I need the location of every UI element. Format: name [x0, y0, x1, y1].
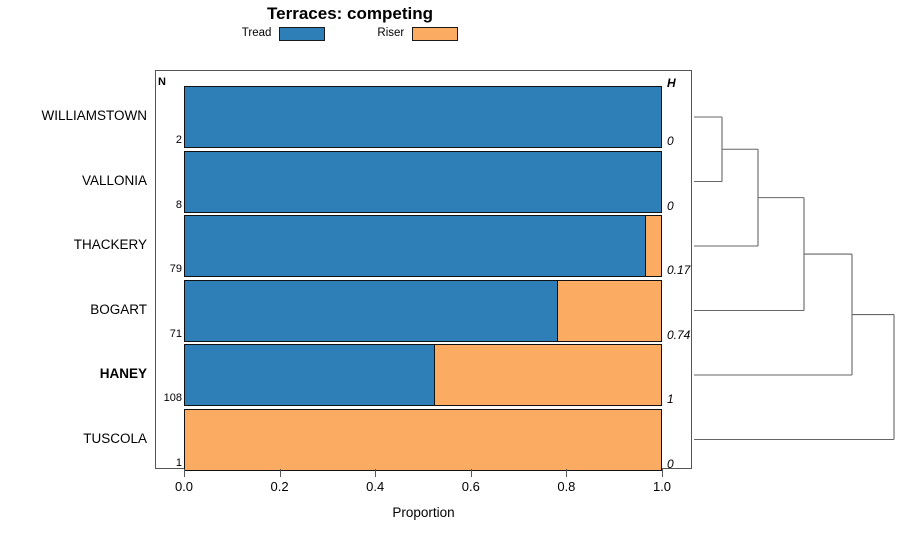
legend-label-riser: Riser	[377, 28, 404, 40]
bar-rows: WILLIAMSTOWN20VALLONIA80THACKERY790.17BO…	[155, 70, 692, 469]
bar-segment-tread	[185, 87, 661, 147]
dendrogram	[694, 70, 900, 469]
legend-swatch-tread	[279, 27, 325, 41]
stacked-bar	[184, 409, 662, 471]
x-tick-mark	[184, 469, 185, 477]
row-n-value: 79	[158, 263, 182, 275]
x-tick-label: 0.4	[350, 479, 400, 494]
chart-title: Terraces: competing	[0, 4, 700, 24]
bar-segment-tread	[185, 152, 661, 212]
bar-segment-tread	[185, 216, 645, 276]
table-row: HANEY1081	[155, 344, 692, 406]
legend-swatch-riser	[412, 27, 458, 41]
chart-root: Terraces: competing Tread Riser N H WILL…	[0, 0, 900, 540]
bar-segment-riser	[185, 410, 661, 470]
row-label-bogart: BOGART	[0, 302, 147, 317]
legend-item-riser: Riser	[377, 27, 458, 41]
stacked-bar	[184, 215, 662, 277]
table-row: VALLONIA80	[155, 151, 692, 213]
bar-segment-riser	[558, 281, 661, 341]
x-tick-label: 0.0	[159, 479, 209, 494]
x-tick-label: 0.6	[446, 479, 496, 494]
stacked-bar	[184, 344, 662, 406]
x-axis-title: Proportion	[155, 505, 692, 520]
table-row: WILLIAMSTOWN20	[155, 86, 692, 148]
x-tick-label: 1.0	[637, 479, 687, 494]
x-tick-mark	[375, 469, 376, 477]
bar-segment-tread	[185, 345, 434, 405]
table-row: BOGART710.74	[155, 280, 692, 342]
row-n-value: 108	[158, 392, 182, 404]
stacked-bar	[184, 86, 662, 148]
x-tick-mark	[280, 469, 281, 477]
stacked-bar	[184, 151, 662, 213]
table-row: THACKERY790.17	[155, 215, 692, 277]
row-n-value: 71	[158, 328, 182, 340]
x-tick-mark	[662, 469, 663, 477]
bar-segment-tread	[185, 281, 557, 341]
row-label-vallonia: VALLONIA	[0, 173, 147, 188]
x-tick-label: 0.8	[541, 479, 591, 494]
stacked-bar	[184, 280, 662, 342]
legend-item-tread: Tread	[242, 27, 326, 41]
x-axis: 0.00.20.40.60.81.0	[155, 469, 692, 529]
x-tick-label: 0.2	[255, 479, 305, 494]
legend-label-tread: Tread	[242, 28, 272, 40]
row-label-williamstown: WILLIAMSTOWN	[0, 108, 147, 123]
x-tick-mark	[566, 469, 567, 477]
row-label-haney: HANEY	[0, 366, 147, 381]
bar-segment-riser	[646, 216, 661, 276]
bar-segment-riser	[435, 345, 661, 405]
row-n-value: 2	[158, 134, 182, 146]
row-n-value: 8	[158, 199, 182, 211]
table-row: TUSCOLA10	[155, 409, 692, 471]
row-label-thackery: THACKERY	[0, 237, 147, 252]
chart-legend: Tread Riser	[0, 27, 700, 41]
x-tick-mark	[471, 469, 472, 477]
row-label-tuscola: TUSCOLA	[0, 431, 147, 446]
row-n-value: 1	[158, 457, 182, 469]
